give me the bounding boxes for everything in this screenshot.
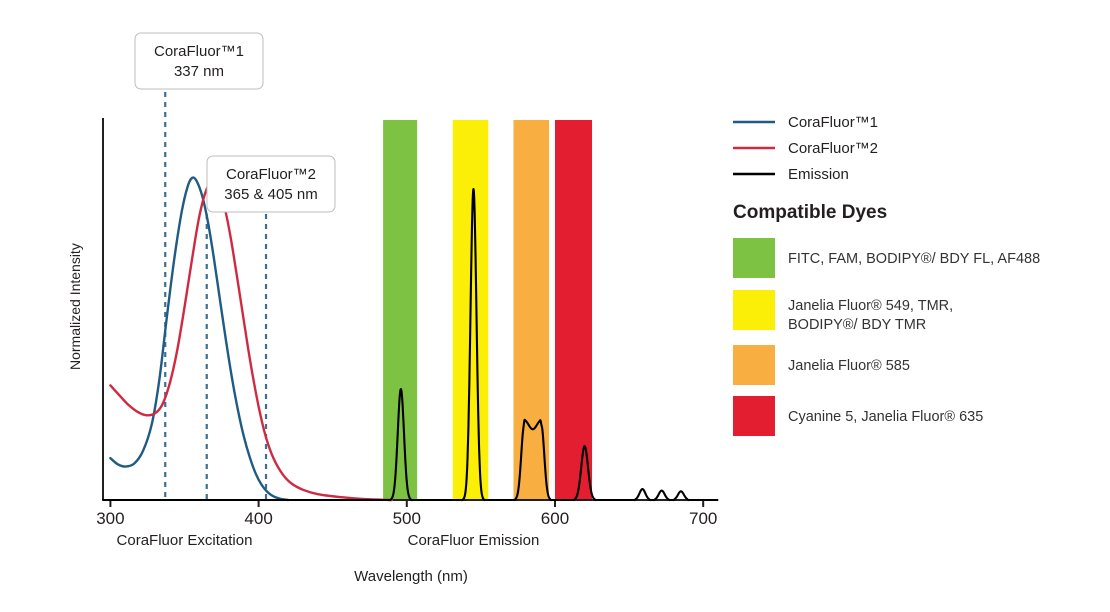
figure-root: 300400500600700 CoraFluor ExcitationCora… <box>0 0 1110 612</box>
dye-color-swatch <box>733 290 775 330</box>
y-axis-title: Normalized Intensity <box>67 243 83 370</box>
x-tick-label: 600 <box>541 509 569 528</box>
axis-section-label: CoraFluor Excitation <box>117 532 253 549</box>
legend-label: CoraFluor™1 <box>788 114 878 131</box>
callout-cora1-line2: 337 nm <box>174 63 224 80</box>
dye-color-swatch <box>733 396 775 436</box>
dye-label: Janelia Fluor® 585 <box>788 358 910 374</box>
spectra-chart: 300400500600700 CoraFluor ExcitationCora… <box>0 0 1110 612</box>
dye-label: Janelia Fluor® 549, TMR, <box>788 298 953 314</box>
legend: CoraFluor™1CoraFluor™2Emission <box>733 114 878 183</box>
green-band <box>383 120 417 500</box>
dye-label: BODIPY®/ BDY TMR <box>788 317 926 333</box>
x-tick-label: 400 <box>244 509 272 528</box>
dye-label: FITC, FAM, BODIPY®/ BDY FL, AF488 <box>788 251 1040 267</box>
callout-cora2: CoraFluor™2 365 & 405 nm <box>207 156 335 212</box>
callout-cora1: CoraFluor™1 337 nm <box>135 33 263 89</box>
callout-cora1-box <box>135 33 263 89</box>
axis-section-labels: CoraFluor ExcitationCoraFluor Emission <box>117 532 540 549</box>
red-band <box>555 120 592 500</box>
x-axis-title: Wavelength (nm) <box>354 568 468 585</box>
callout-cora1-line1: CoraFluor™1 <box>154 43 244 60</box>
compatible-dyes-heading: Compatible Dyes <box>733 202 887 223</box>
axis-section-label: CoraFluor Emission <box>408 532 540 549</box>
dye-color-swatch <box>733 238 775 278</box>
series-curve <box>110 178 288 500</box>
dye-label: Cyanine 5, Janelia Fluor® 635 <box>788 409 983 425</box>
marker-lines <box>165 92 266 500</box>
dye-color-swatch <box>733 345 775 385</box>
x-tick-label: 700 <box>689 509 717 528</box>
series-curve <box>110 183 392 500</box>
legend-label: Emission <box>788 166 849 183</box>
callout-cora2-box <box>207 156 335 212</box>
color-bands <box>383 120 592 500</box>
x-tick-label: 500 <box>393 509 421 528</box>
callout-cora2-line1: CoraFluor™2 <box>226 166 316 183</box>
x-tick-label: 300 <box>96 509 124 528</box>
legend-label: CoraFluor™2 <box>788 140 878 157</box>
x-axis-ticks: 300400500600700 <box>96 500 717 528</box>
compatible-dyes-panel: Compatible Dyes FITC, FAM, BODIPY®/ BDY … <box>733 202 1040 436</box>
callout-cora2-line2: 365 & 405 nm <box>224 186 317 203</box>
